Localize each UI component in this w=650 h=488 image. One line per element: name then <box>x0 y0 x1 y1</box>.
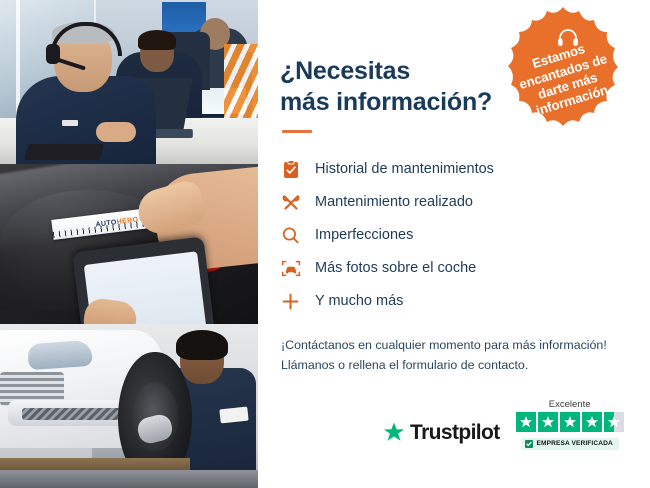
star-rating <box>516 412 624 432</box>
car-headlight <box>27 340 93 370</box>
list-item: Más fotos sobre el coche <box>280 252 622 285</box>
trustpilot-rating: Excelente <box>516 400 624 451</box>
car-inspection-ruler-photo: AUTOHERO <box>0 164 258 324</box>
call-center-agents-photo <box>0 0 258 164</box>
trustpilot-wordmark: Trustpilot <box>410 422 500 443</box>
check-icon <box>525 440 533 448</box>
title-underline-rule <box>282 130 312 133</box>
star-filled <box>538 412 558 432</box>
magnifier-icon <box>280 225 301 246</box>
star-filled <box>516 412 536 432</box>
star-half <box>604 412 624 432</box>
page-title: ¿Necesitas más información? <box>280 56 515 117</box>
second-agent-hair <box>138 30 176 50</box>
contact-text-line-1: ¡Contáctanos en cualquier momento para m… <box>281 335 622 355</box>
page-title-line-1: ¿Necesitas <box>280 57 410 85</box>
headset-icon <box>556 27 580 47</box>
verified-badge: EMPRESA VERIFICADA <box>521 438 619 450</box>
technician-wheel-photo <box>0 324 258 488</box>
trustpilot-logo: Trustpilot <box>383 421 500 443</box>
list-item-label: Imperfecciones <box>315 228 413 243</box>
list-item: Y mucho más <box>280 285 622 318</box>
promo-badge: Estamos encantados de darte más informac… <box>495 3 631 139</box>
clipboard-check-icon <box>280 159 301 180</box>
desk-tablet <box>24 144 105 160</box>
list-item-label: Historial de mantenimientos <box>315 162 494 177</box>
list-item: Mantenimiento realizado <box>280 186 622 219</box>
list-item: Imperfecciones <box>280 219 622 252</box>
car-air-intake <box>22 408 126 420</box>
trustpilot-star-icon <box>383 421 405 443</box>
rating-label: Excelente <box>549 400 591 410</box>
information-banner: AUTOHERO ¿Necesit <box>0 0 650 488</box>
contact-text: ¡Contáctanos en cualquier momento para m… <box>281 335 622 375</box>
plus-icon <box>280 291 301 312</box>
technician-hair <box>176 330 228 360</box>
technician-shirt-logo <box>219 407 248 424</box>
list-item: Historial de mantenimientos <box>280 153 622 186</box>
content-panel: ¿Necesitas más información? Historial de… <box>258 0 650 488</box>
agent-hand <box>96 122 136 142</box>
photo-collage: AUTOHERO <box>0 0 258 488</box>
wrench-screwdriver-icon <box>280 192 301 213</box>
star-filled <box>560 412 580 432</box>
employee-badge <box>62 120 78 126</box>
contact-text-line-2: Llámanos o rellena el formulario de cont… <box>281 355 622 375</box>
workshop-floor <box>0 470 258 488</box>
verified-label: EMPRESA VERIFICADA <box>537 441 613 448</box>
trustpilot-widget[interactable]: Trustpilot Excelente <box>383 400 624 451</box>
car-scan-icon <box>280 258 301 279</box>
list-item-label: Mantenimiento realizado <box>315 195 473 210</box>
list-item-label: Más fotos sobre el coche <box>315 261 476 276</box>
starburst-shape <box>495 3 631 139</box>
page-title-line-2: más información? <box>280 88 492 116</box>
star-filled <box>582 412 602 432</box>
feature-list: Historial de mantenimientos Mantenimient… <box>280 153 622 318</box>
list-item-label: Y mucho más <box>315 294 403 309</box>
